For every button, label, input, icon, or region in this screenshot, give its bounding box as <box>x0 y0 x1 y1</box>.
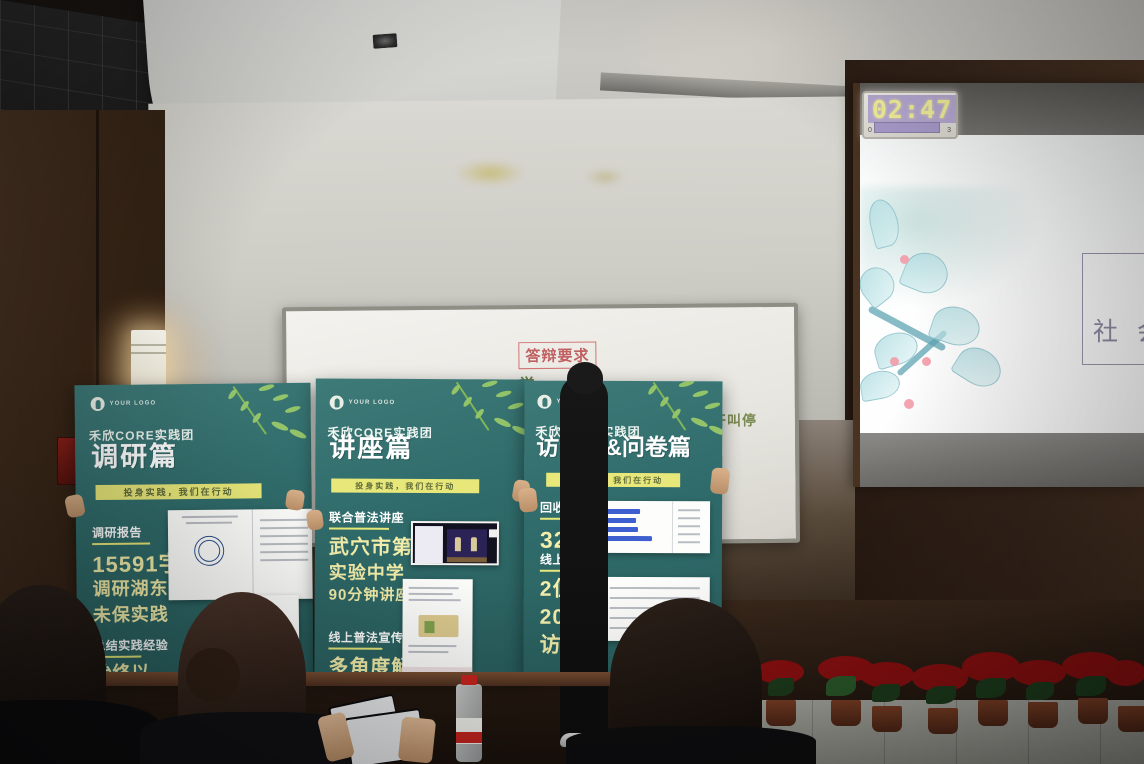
logo-label: YOUR LOGO <box>110 400 157 406</box>
poster-inset-chart <box>600 501 710 553</box>
hand-holding-phone <box>398 716 436 763</box>
bottle-label <box>456 718 482 744</box>
poster-ribbon: 投身实践，我们在行动 <box>96 483 262 500</box>
poster-logo: YOUR LOGO <box>330 396 396 410</box>
poster-title: 讲座篇 <box>329 428 413 465</box>
hand-holding-poster <box>285 489 306 511</box>
poster-inset-article <box>402 579 473 677</box>
wall-stain <box>585 168 625 186</box>
stat-line: 90分钟讲座 <box>329 584 412 605</box>
audience-body-left <box>0 700 160 764</box>
timer-right-label: 3 <box>947 127 951 134</box>
audience-body-right <box>566 726 816 764</box>
hand-holding-poster <box>518 487 538 513</box>
leaf-frond-icon <box>423 378 528 455</box>
hand-holding-poster <box>710 467 731 495</box>
bottle-cap <box>461 675 477 685</box>
downlight-icon <box>371 32 398 50</box>
hand-holding-poster <box>306 509 325 531</box>
stat-label: 联合普法讲座 <box>329 509 404 526</box>
stat-label: 线上普法宣传 <box>328 629 403 646</box>
presenter-head <box>567 362 603 394</box>
leaf-frond-icon <box>200 383 313 460</box>
logo-label: YOUR LOGO <box>349 400 396 406</box>
poster-title: 调研篇 <box>91 434 178 474</box>
audience-hair-bun <box>186 648 240 702</box>
poster-lecture[interactable]: YOUR LOGO 禾欣CORE实践团 讲座篇 投身实践，我们在行动 联合普法讲… <box>314 378 529 679</box>
stat-line: 未保实践 <box>93 600 169 627</box>
logo-mark-icon <box>91 397 105 411</box>
water-bottle <box>456 684 482 762</box>
stat-line: 实验中学 <box>329 559 405 585</box>
timer-display: 02:47 <box>868 95 956 123</box>
slide-title-frame: 禾 社 会 答 <box>1082 253 1144 365</box>
projected-slide: 禾 社 会 答 <box>860 135 1144 435</box>
logo-mark-icon <box>537 395 551 409</box>
slide-title-line2: 社 会 <box>1093 312 1144 348</box>
screen-bottom-bar <box>860 433 1144 487</box>
wall-stain <box>455 160 525 186</box>
poster-inset-lecture-screenshot <box>411 521 499 565</box>
countdown-timer[interactable]: 02:47 0 3 <box>862 91 958 139</box>
poster-logo: YOUR LOGO <box>91 396 157 411</box>
presenter-person <box>560 375 608 745</box>
projector-screen: 禾 社 会 答 <box>853 83 1144 487</box>
wall-sconce-light <box>131 330 166 392</box>
logo-mark-icon <box>330 396 344 410</box>
auditorium-scene: 答辩要求 学 规 红牌开叫停 △△ 与 <box>0 0 1144 764</box>
poster-inset-document <box>168 509 314 601</box>
poster-ribbon: 投身实践，我们在行动 <box>331 479 479 494</box>
timer-left-label: 0 <box>868 127 872 134</box>
stat-label: 调研报告 <box>92 524 142 542</box>
timer-progress-bar <box>874 122 940 133</box>
